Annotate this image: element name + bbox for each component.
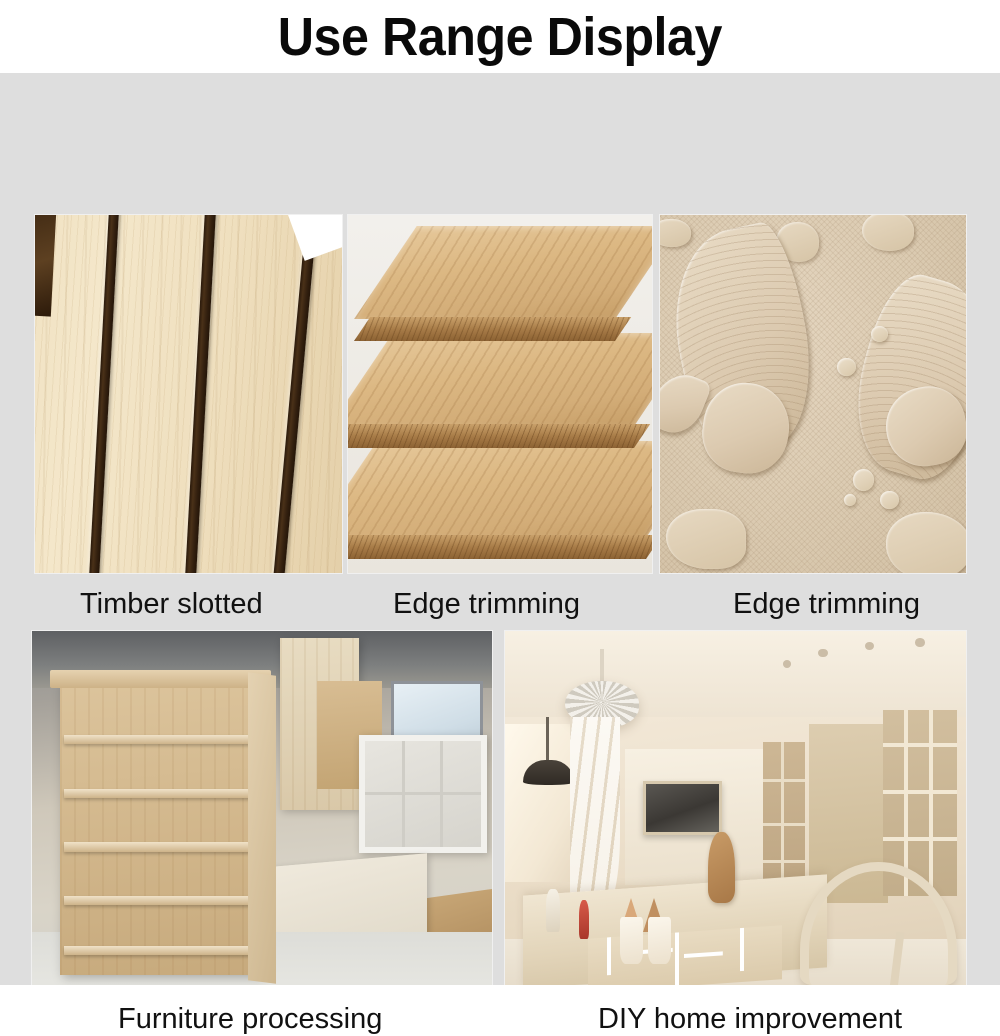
cube-shelf-grid — [365, 741, 481, 847]
carved-bubble — [880, 491, 898, 509]
carved-bubble — [871, 326, 888, 342]
furniture-workshop-photo[interactable] — [32, 631, 492, 989]
caption-edge-trimming-boards: Edge trimming — [393, 587, 580, 621]
header-banner: Use Range Display — [0, 0, 1000, 73]
lotus-leaf — [886, 512, 966, 573]
home-interior-photo[interactable] — [505, 631, 966, 989]
bookshelf-plank — [64, 896, 257, 905]
bookshelf-back-panel — [60, 681, 262, 975]
board-face — [348, 441, 652, 538]
wooden-vase — [708, 832, 736, 904]
bookshelf-top — [50, 670, 271, 688]
use-range-display-page: Use Range Display — [0, 0, 1000, 1000]
board-face — [348, 333, 652, 426]
gallery-board: Timber slotted Edge trimming Edge trimmi… — [0, 73, 1000, 985]
bookshelf-side-panel — [248, 672, 276, 983]
wall-mounted-tv — [643, 781, 721, 835]
ceiling-spotlight — [865, 642, 874, 651]
lotus-leaf — [660, 219, 691, 248]
footer-strip — [0, 985, 1000, 1000]
lattice-shelving-center — [763, 742, 804, 892]
window-curtain — [570, 717, 621, 917]
board-middle — [348, 333, 634, 426]
white-bottle — [546, 889, 560, 932]
edge-trimming-boards-photo[interactable] — [348, 215, 652, 573]
ceiling-spotlight — [818, 649, 827, 658]
caption-furniture-processing: Furniture processing — [118, 1002, 382, 1036]
carved-bubble — [837, 358, 855, 376]
bookshelf-plank — [64, 842, 257, 851]
carved-koi-relief-photo[interactable] — [660, 215, 966, 573]
board-face — [354, 226, 652, 319]
lotus-leaf — [862, 215, 914, 251]
page-title: Use Range Display — [278, 9, 722, 65]
window-daylight — [505, 724, 574, 882]
board-edge — [348, 424, 650, 448]
bookshelf-plank — [64, 789, 257, 798]
bookshelf-plank — [64, 735, 257, 744]
carved-bubble — [853, 469, 874, 490]
bookshelf-plank — [64, 946, 257, 955]
timber-slotted-photo[interactable] — [35, 215, 342, 573]
ceiling-spotlight — [915, 638, 924, 647]
caption-edge-trimming-relief: Edge trimming — [733, 587, 920, 621]
dome-lamp-rod — [546, 717, 549, 764]
decor-cup — [620, 917, 643, 964]
red-bottle — [579, 900, 589, 939]
board-edge — [348, 535, 652, 559]
caption-diy-home-improvement: DIY home improvement — [598, 1002, 902, 1036]
caption-timber-slotted: Timber slotted — [80, 587, 263, 621]
board-top — [354, 226, 615, 319]
board-edge — [354, 317, 632, 341]
white-cube-shelf — [359, 735, 488, 853]
decor-cup — [648, 917, 671, 964]
ceiling-spotlight — [783, 660, 791, 668]
board-bottom — [348, 441, 646, 538]
